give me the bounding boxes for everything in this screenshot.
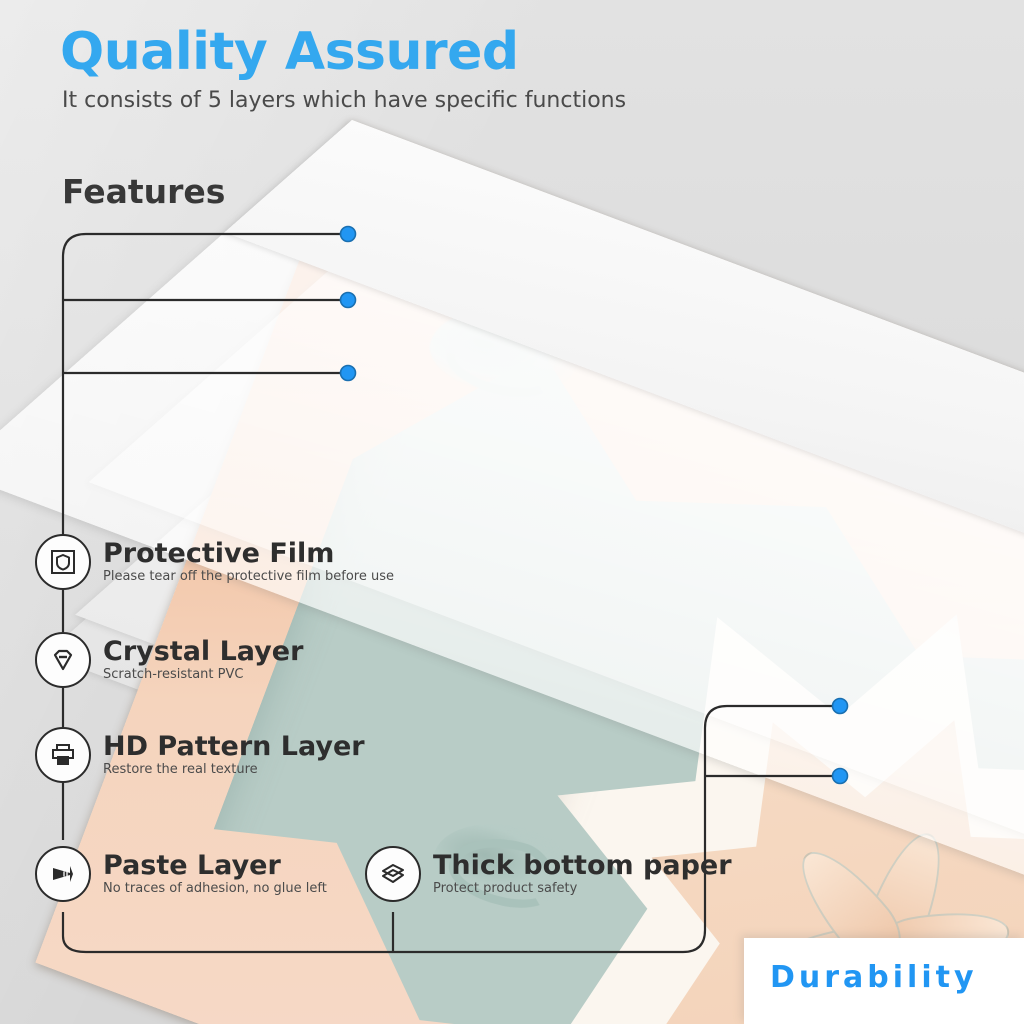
feature-item-crystal-layer[interactable]: Crystal Layer Scratch-resistant PVC [35, 632, 303, 688]
stacked-sheets-icon [365, 846, 421, 902]
feature-title: Paste Layer [103, 852, 327, 880]
adhesive-spread-icon [35, 846, 91, 902]
feature-subtitle: Scratch-resistant PVC [103, 667, 303, 682]
feature-text-block: Paste Layer No traces of adhesion, no gl… [103, 852, 327, 897]
feature-title: Thick bottom paper [433, 852, 732, 880]
infographic-page: Quality Assured It consists of 5 layers … [0, 0, 1024, 1024]
feature-title: Crystal Layer [103, 638, 303, 666]
feature-title: HD Pattern Layer [103, 733, 365, 761]
feature-subtitle: Protect product safety [433, 881, 732, 896]
durability-label: Durability [770, 960, 978, 995]
feature-text-block: HD Pattern Layer Restore the real textur… [103, 733, 365, 778]
feature-text-block: Thick bottom paper Protect product safet… [433, 852, 732, 897]
feature-item-protective-film[interactable]: Protective Film Please tear off the prot… [35, 534, 394, 590]
feature-item-thick-bottom-paper[interactable]: Thick bottom paper Protect product safet… [365, 846, 732, 902]
features-heading: Features [62, 172, 225, 211]
feature-title: Protective Film [103, 540, 394, 568]
gem-diamond-icon [35, 632, 91, 688]
page-subtitle: It consists of 5 layers which have speci… [62, 88, 626, 113]
feature-text-block: Protective Film Please tear off the prot… [103, 540, 394, 585]
shield-in-square-icon [35, 534, 91, 590]
feature-subtitle: No traces of adhesion, no glue left [103, 881, 327, 896]
feature-subtitle: Restore the real texture [103, 762, 365, 777]
printer-icon [35, 727, 91, 783]
feature-subtitle: Please tear off the protective film befo… [103, 569, 394, 584]
feature-text-block: Crystal Layer Scratch-resistant PVC [103, 638, 303, 683]
feature-item-paste-layer[interactable]: Paste Layer No traces of adhesion, no gl… [35, 846, 327, 902]
page-title: Quality Assured [60, 22, 519, 82]
feature-item-hd-pattern-layer[interactable]: HD Pattern Layer Restore the real textur… [35, 727, 365, 783]
